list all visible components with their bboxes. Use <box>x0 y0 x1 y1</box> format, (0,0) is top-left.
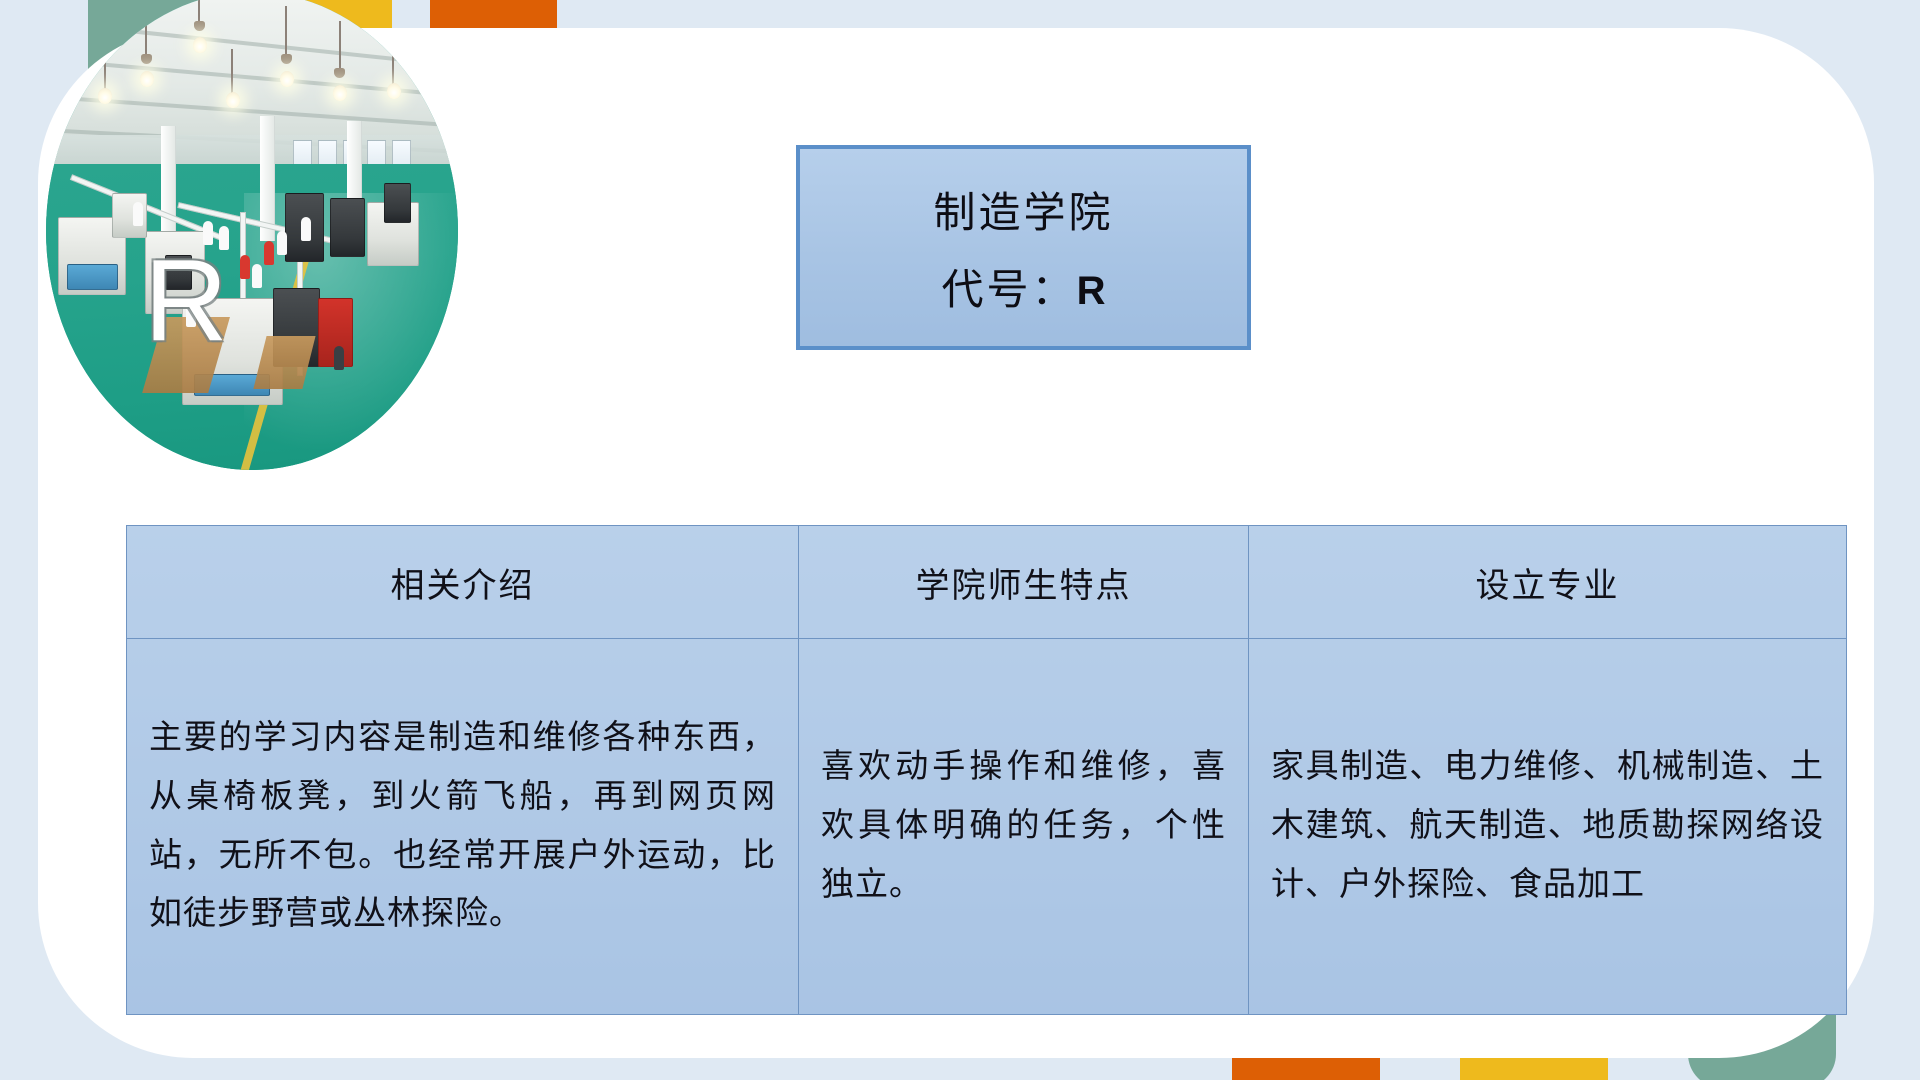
lamp-cap <box>141 54 152 64</box>
lamp-bulb <box>280 71 294 87</box>
slide-canvas: R 制造学院 代号：R 相关介绍 学院师生特点 设立专业 主要的学习内容是制造和… <box>0 0 1920 1080</box>
person <box>252 264 262 288</box>
person <box>277 231 287 255</box>
person <box>264 241 274 265</box>
cell-intro: 主要的学习内容是制造和维修各种东西，从桌椅板凳，到火箭飞船，再到网页网站，无所不… <box>127 639 799 1015</box>
workshop-photo: R <box>46 0 458 470</box>
table-row: 主要的学习内容是制造和维修各种东西，从桌椅板凳，到火箭飞船，再到网页网站，无所不… <box>127 639 1847 1015</box>
header-cell-intro: 相关介绍 <box>127 526 799 639</box>
lamp-bulb <box>193 37 207 53</box>
lamp-wire <box>339 21 341 74</box>
machine <box>384 183 411 223</box>
person <box>133 202 143 226</box>
machine-panel <box>67 264 118 290</box>
college-name: 制造学院 <box>933 179 1113 240</box>
lamp-bulb <box>226 92 240 108</box>
person <box>334 346 344 370</box>
college-code-line: 代号：R <box>942 256 1106 317</box>
lamp-wire <box>104 49 106 92</box>
college-title-box: 制造学院 代号：R <box>796 145 1251 350</box>
lamp-bulb <box>140 71 154 87</box>
lamp-bulb <box>333 85 347 101</box>
photo-code-letter: R <box>144 242 228 358</box>
lamp-wire <box>285 6 287 59</box>
lamp-wire <box>231 49 233 97</box>
lamp-wire <box>392 40 394 88</box>
lamp-wire <box>145 16 147 59</box>
workshop-photo-art <box>46 0 458 470</box>
person <box>301 217 311 241</box>
lamp-bulb <box>387 83 401 99</box>
machine <box>330 198 365 257</box>
college-info-table: 相关介绍 学院师生特点 设立专业 主要的学习内容是制造和维修各种东西，从桌椅板凳… <box>126 525 1847 1015</box>
header-cell-majors: 设立专业 <box>1249 526 1847 639</box>
college-code-value: R <box>1077 269 1106 313</box>
cell-traits: 喜欢动手操作和维修，喜欢具体明确的任务，个性独立。 <box>799 639 1249 1015</box>
cell-majors: 家具制造、电力维修、机械制造、土木建筑、航天制造、地质勘探网络设计、户外探险、食… <box>1249 639 1847 1015</box>
header-cell-traits: 学院师生特点 <box>799 526 1249 639</box>
college-code-label: 代号： <box>942 268 1077 314</box>
lamp-bulb <box>98 88 112 104</box>
table-header-row: 相关介绍 学院师生特点 设立专业 <box>127 526 1847 639</box>
person <box>240 255 250 279</box>
